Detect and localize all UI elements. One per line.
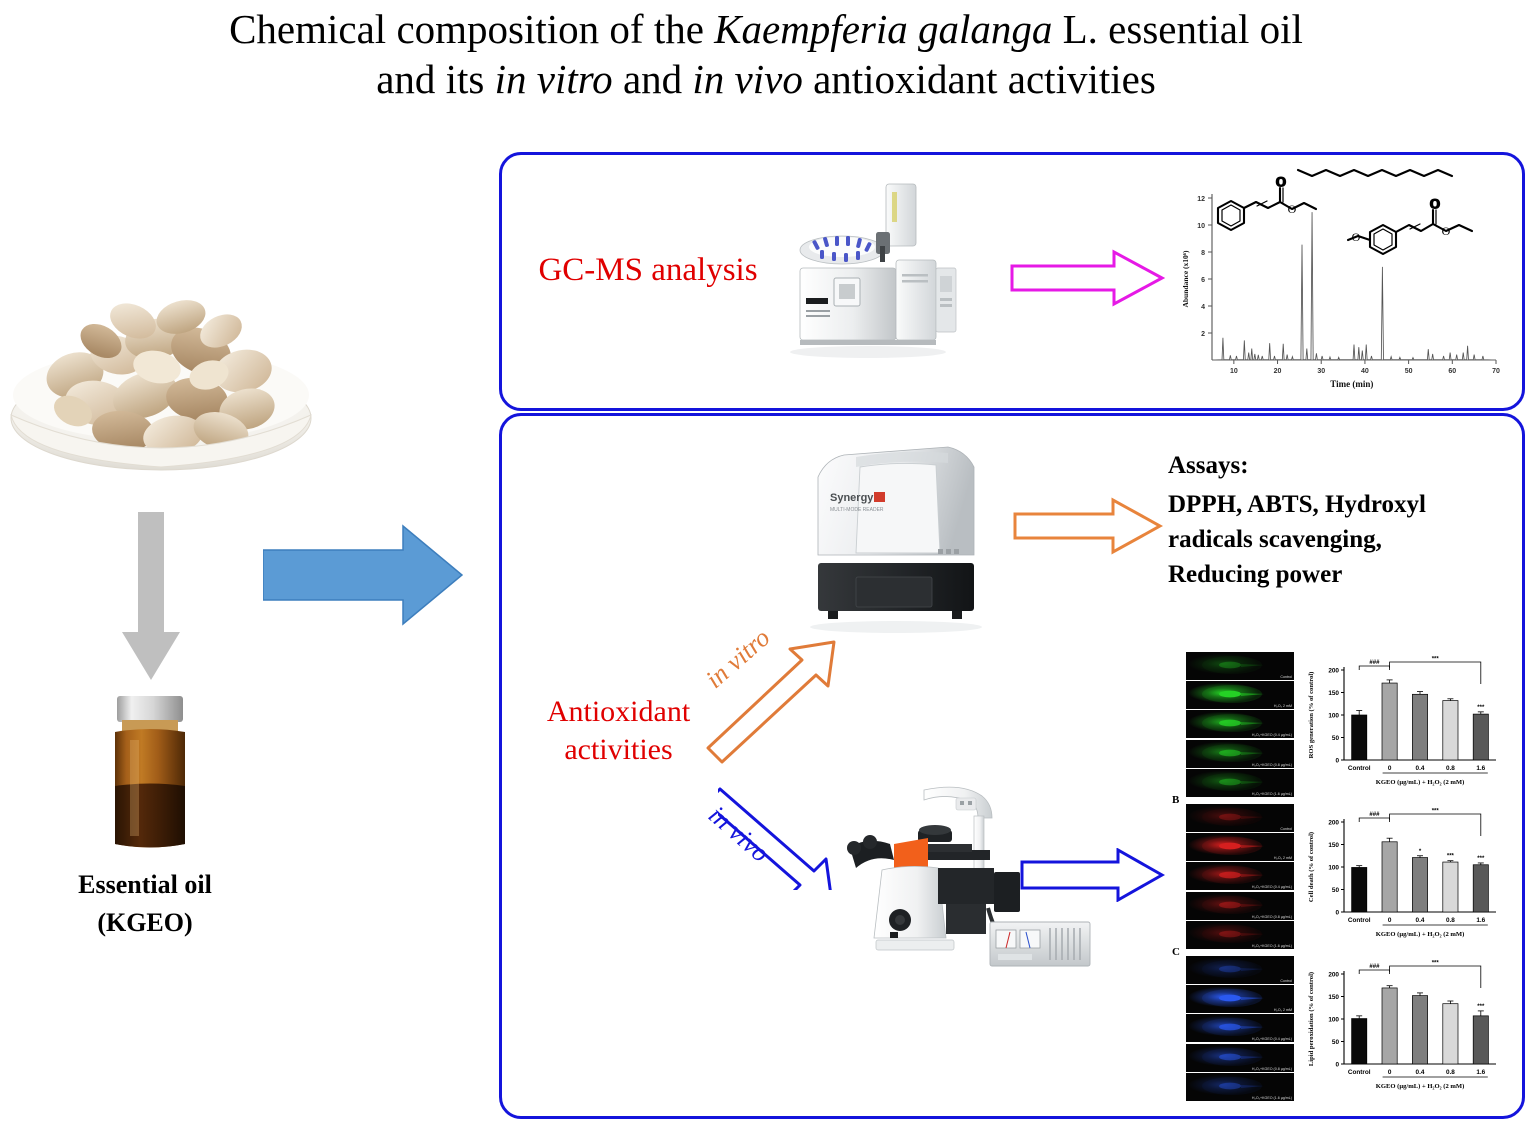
svg-text:KGEO (µg/mL) + H₂O₂ (2 mM): KGEO (µg/mL) + H₂O₂ (2 mM): [1376, 779, 1465, 786]
svg-text:150: 150: [1328, 994, 1339, 1001]
svg-text:50: 50: [1332, 887, 1340, 894]
fluorescence-image-row: H₂O₂+KGEO (0.4 µg/mL): [1186, 710, 1294, 738]
svg-text:###: ###: [1369, 660, 1380, 666]
fluorescence-image-label: H₂O₂+KGEO (1.6 µg/mL): [1252, 944, 1292, 948]
svg-text:0: 0: [1335, 1062, 1339, 1069]
svg-text:Synergy: Synergy: [830, 492, 874, 504]
svg-text:12: 12: [1197, 196, 1205, 203]
title-text-2a: and its: [376, 56, 494, 102]
assays-heading: Assays:: [1168, 448, 1513, 483]
assays-line-1: DPPH, ABTS, Hydroxyl: [1168, 491, 1426, 518]
svg-text:100: 100: [1328, 1017, 1339, 1024]
svg-text:0: 0: [1335, 758, 1339, 765]
lipid-peroxidation-chart: 050100150200Control00.40.81.6***###***KG…: [1300, 958, 1510, 1101]
svg-text:O: O: [1430, 196, 1439, 211]
fluorescence-image-label: H₂O₂+KGEO (0.8 µg/mL): [1252, 763, 1292, 767]
fluorescence-image-label: Control: [1280, 827, 1292, 831]
fluorescence-image-row: H₂O₂+KGEO (0.4 µg/mL): [1186, 862, 1294, 890]
result-block-c: CControlH₂O₂ 2 mMH₂O₂+KGEO (0.4 µg/mL)H₂…: [1172, 956, 1517, 1106]
fluorescence-image-row: H₂O₂+KGEO (0.8 µg/mL): [1186, 740, 1294, 768]
svg-text:150: 150: [1328, 690, 1339, 697]
title-text-2b: and: [613, 56, 693, 102]
svg-text:150: 150: [1328, 842, 1339, 849]
title-species-name: Kaempferia galanga: [714, 6, 1052, 52]
fluorescence-image-label: H₂O₂+KGEO (0.8 µg/mL): [1252, 915, 1292, 919]
antioxidant-label-line2: activities: [516, 731, 721, 769]
assays-line-2: radicals scavenging,: [1168, 526, 1382, 553]
svg-text:Lipid peroxidation (% of contr: Lipid peroxidation (% of control): [1308, 972, 1315, 1066]
svg-text:0.4: 0.4: [1416, 917, 1425, 924]
svg-text:100: 100: [1328, 865, 1339, 872]
svg-text:2: 2: [1201, 331, 1205, 338]
svg-text:6: 6: [1201, 277, 1205, 284]
panel-letter-c: C: [1172, 946, 1180, 958]
svg-text:4: 4: [1201, 304, 1205, 311]
svg-text:***: ***: [1447, 854, 1455, 860]
svg-text:50: 50: [1405, 368, 1413, 375]
svg-text:0.4: 0.4: [1416, 765, 1425, 772]
fluorescence-image-label: H₂O₂+KGEO (0.4 µg/mL): [1252, 885, 1292, 889]
reader-to-assays-arrow: [1013, 496, 1163, 556]
svg-text:KGEO (µg/mL) + H₂O₂ (2 mM): KGEO (µg/mL) + H₂O₂ (2 mM): [1376, 931, 1465, 938]
title-in-vivo: in vivo: [692, 56, 802, 102]
essential-oil-bottle-image: [60, 690, 240, 870]
svg-text:***: ***: [1432, 809, 1440, 815]
fluorescence-image-row: Control: [1186, 956, 1294, 984]
fluorescence-image-row: H₂O₂ 2 mM: [1186, 681, 1294, 709]
svg-text:***: ***: [1477, 856, 1485, 862]
svg-text:O: O: [1276, 174, 1285, 189]
title-in-vitro: in vitro: [495, 56, 613, 102]
svg-text:10: 10: [1230, 368, 1238, 375]
fluorescence-image-row: Control: [1186, 652, 1294, 680]
fluorescence-image-column-red: ControlH₂O₂ 2 mMH₂O₂+KGEO (0.4 µg/mL)H₂O…: [1186, 804, 1294, 949]
result-block-b: BControlH₂O₂ 2 mMH₂O₂+KGEO (0.4 µg/mL)H₂…: [1172, 804, 1517, 954]
antioxidant-label-line1: Antioxidant: [516, 693, 721, 731]
fluorescence-image-row: H₂O₂+KGEO (1.6 µg/mL): [1186, 921, 1294, 949]
process-arrow-down: [120, 512, 182, 682]
fluorescence-image-label: Control: [1280, 979, 1292, 983]
svg-text:0.8: 0.8: [1446, 1069, 1455, 1076]
svg-text:8: 8: [1201, 250, 1205, 257]
svg-text:30: 30: [1317, 368, 1325, 375]
title-text-2c: antioxidant activities: [803, 56, 1156, 102]
svg-text:***: ***: [1477, 705, 1485, 711]
svg-text:20: 20: [1274, 368, 1282, 375]
svg-text:Cell death (% of control): Cell death (% of control): [1308, 832, 1315, 902]
svg-text:1.6: 1.6: [1476, 765, 1485, 772]
svg-text:Abundance (x10⁶): Abundance (x10⁶): [1181, 250, 1190, 308]
essential-oil-caption: Essential oil (KGEO): [0, 866, 290, 941]
gcms-chromatogram-chart: 2468101210203040506070Time (min)Abundanc…: [1178, 160, 1508, 400]
svg-text:50: 50: [1332, 1039, 1340, 1046]
svg-text:O: O: [1288, 202, 1297, 216]
svg-text:Time (min): Time (min): [1330, 379, 1373, 389]
svg-text:50: 50: [1332, 735, 1340, 742]
title-line-2: and its in vitro and in vivo antioxidant…: [0, 54, 1532, 104]
svg-text:O: O: [1442, 224, 1451, 238]
fluorescence-image-label: Control: [1280, 675, 1292, 679]
svg-text:###: ###: [1369, 812, 1380, 818]
fluorescence-image-column-blue: ControlH₂O₂ 2 mMH₂O₂+KGEO (0.4 µg/mL)H₂O…: [1186, 956, 1294, 1101]
svg-text:0.8: 0.8: [1446, 765, 1455, 772]
fluorescence-image-row: H₂O₂+KGEO (1.6 µg/mL): [1186, 1073, 1294, 1101]
process-arrow-right: [263, 523, 463, 628]
svg-text:###: ###: [1369, 964, 1380, 970]
svg-text:0.4: 0.4: [1416, 1069, 1425, 1076]
svg-text:KGEO (µg/mL) + H₂O₂ (2 mM): KGEO (µg/mL) + H₂O₂ (2 mM): [1376, 1083, 1465, 1090]
fluorescence-image-label: H₂O₂+KGEO (1.6 µg/mL): [1252, 1096, 1292, 1100]
fluorescence-image-label: H₂O₂+KGEO (1.6 µg/mL): [1252, 792, 1292, 796]
essential-oil-caption-line1: Essential oil: [0, 866, 290, 904]
fluorescence-image-label: H₂O₂ 2 mM: [1274, 856, 1292, 860]
svg-text:0: 0: [1388, 917, 1392, 924]
fluorescence-image-row: Control: [1186, 804, 1294, 832]
svg-text:40: 40: [1361, 368, 1369, 375]
assays-line-3: Reducing power: [1168, 561, 1342, 588]
svg-text:Control: Control: [1348, 917, 1371, 924]
panel-letter-b: B: [1172, 794, 1179, 806]
svg-text:*: *: [1419, 849, 1422, 855]
gcms-analysis-label: GC-MS analysis: [528, 252, 768, 289]
svg-text:200: 200: [1328, 668, 1339, 675]
fluorescence-image-label: H₂O₂+KGEO (0.8 µg/mL): [1252, 1067, 1292, 1071]
svg-text:Control: Control: [1348, 765, 1371, 772]
fluorescence-image-row: H₂O₂ 2 mM: [1186, 833, 1294, 861]
svg-text:0.8: 0.8: [1446, 917, 1455, 924]
title-text-1a: Chemical composition of the: [229, 6, 714, 52]
svg-text:70: 70: [1492, 368, 1500, 375]
fluorescence-image-row: H₂O₂+KGEO (1.6 µg/mL): [1186, 769, 1294, 797]
fluorescence-image-label: H₂O₂+KGEO (0.4 µg/mL): [1252, 1037, 1292, 1041]
fluorescence-image-row: H₂O₂ 2 mM: [1186, 985, 1294, 1013]
gcms-to-chromatogram-arrow: [1010, 248, 1165, 308]
svg-text:10: 10: [1197, 223, 1205, 230]
fluorescence-image-label: H₂O₂ 2 mM: [1274, 704, 1292, 708]
fluorescence-image-row: H₂O₂+KGEO (0.8 µg/mL): [1186, 892, 1294, 920]
svg-text:1.6: 1.6: [1476, 1069, 1485, 1076]
fluorescence-image-label: H₂O₂ 2 mM: [1274, 1008, 1292, 1012]
fluorescence-image-label: H₂O₂+KGEO (0.4 µg/mL): [1252, 733, 1292, 737]
svg-text:O: O: [1352, 230, 1361, 244]
ros-generation-chart: 050100150200Control00.40.81.6***###***KG…: [1300, 654, 1510, 797]
svg-text:Control: Control: [1348, 1069, 1371, 1076]
title-text-1b: L. essential oil: [1052, 6, 1303, 52]
results-montage: ControlH₂O₂ 2 mMH₂O₂+KGEO (0.4 µg/mL)H₂O…: [1172, 652, 1517, 1107]
essential-oil-caption-line2: (KGEO): [0, 904, 290, 942]
fluorescence-image-column-green: ControlH₂O₂ 2 mMH₂O₂+KGEO (0.4 µg/mL)H₂O…: [1186, 652, 1294, 797]
svg-text:1.6: 1.6: [1476, 917, 1485, 924]
microscope-to-results-arrow: [1020, 848, 1165, 902]
page-title: Chemical composition of the Kaempferia g…: [0, 4, 1532, 104]
title-line-1: Chemical composition of the Kaempferia g…: [0, 4, 1532, 54]
svg-text:200: 200: [1328, 972, 1339, 979]
svg-text:***: ***: [1432, 657, 1440, 663]
svg-text:0: 0: [1335, 910, 1339, 917]
cell-death-chart: 050100150200Control00.4*0.8***1.6***###*…: [1300, 806, 1510, 949]
rhizome-bowl-image: [5, 243, 317, 480]
svg-text:0: 0: [1388, 1069, 1392, 1076]
svg-text:60: 60: [1448, 368, 1456, 375]
svg-text:ROS generation (% of control): ROS generation (% of control): [1308, 672, 1315, 759]
result-block-a: ControlH₂O₂ 2 mMH₂O₂+KGEO (0.4 µg/mL)H₂O…: [1172, 652, 1517, 802]
microplate-reader-image: Synergy MULTI-MODE READER: [800, 437, 995, 637]
svg-text:0: 0: [1388, 765, 1392, 772]
svg-text:100: 100: [1328, 713, 1339, 720]
antioxidant-activities-label: Antioxidant activities: [516, 693, 721, 768]
fluorescence-image-row: H₂O₂+KGEO (0.4 µg/mL): [1186, 1014, 1294, 1042]
fluorescence-image-row: H₂O₂+KGEO (0.8 µg/mL): [1186, 1044, 1294, 1072]
assays-list: Assays: DPPH, ABTS, Hydroxyl radicals sc…: [1168, 448, 1513, 592]
svg-text:***: ***: [1432, 961, 1440, 967]
svg-text:***: ***: [1477, 1004, 1485, 1010]
svg-text:MULTI-MODE READER: MULTI-MODE READER: [830, 507, 884, 513]
svg-text:200: 200: [1328, 820, 1339, 827]
gcms-instrument-image: [780, 170, 960, 360]
